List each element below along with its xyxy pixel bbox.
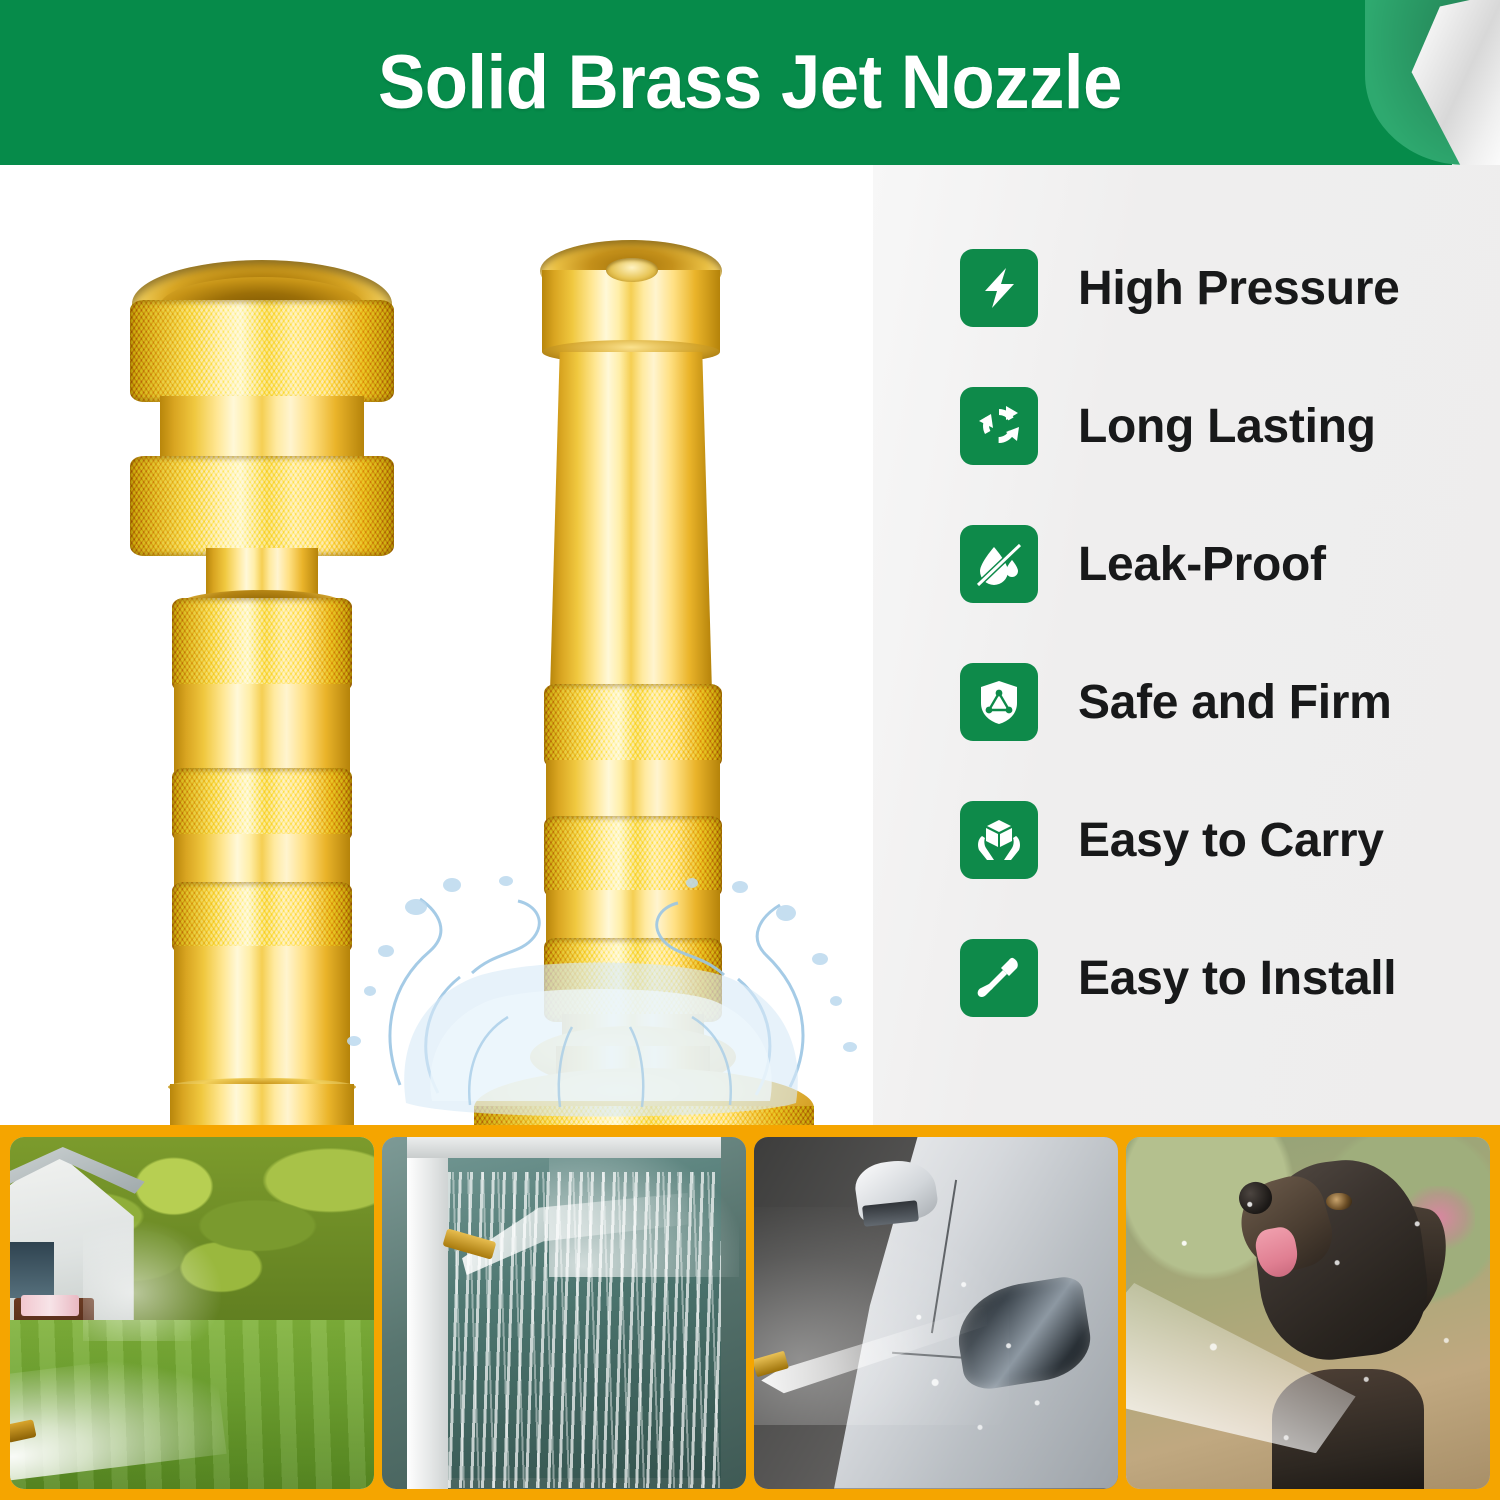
main-content: High Pressure <box>0 165 1500 1125</box>
feature-item-easy-to-install: Easy to Install <box>960 939 1500 1017</box>
feature-item-leak-proof: Leak-Proof <box>960 525 1500 603</box>
nozzle-body-section <box>174 684 350 778</box>
usage-gallery <box>0 1125 1500 1500</box>
page-title: Solid Brass Jet Nozzle <box>53 0 1448 165</box>
feature-label: High Pressure <box>1078 261 1400 316</box>
shield-network-icon <box>960 663 1038 741</box>
feature-item-safe-and-firm: Safe and Firm <box>960 663 1500 741</box>
window-washing-photo <box>382 1137 746 1489</box>
lawn-watering-photo <box>10 1137 374 1489</box>
feature-label: Easy to Carry <box>1078 813 1384 868</box>
header-banner: Solid Brass Jet Nozzle <box>0 0 1500 165</box>
feature-label: Long Lasting <box>1078 399 1376 454</box>
car-washing-photo <box>754 1137 1118 1489</box>
nozzle-orifice <box>606 258 658 282</box>
feature-item-long-lasting: Long Lasting <box>960 387 1500 465</box>
hands-holding-box-icon <box>960 801 1038 879</box>
screwdriver-icon <box>960 939 1038 1017</box>
water-drop-slash-icon <box>960 525 1038 603</box>
dog-washing-photo <box>1126 1137 1490 1489</box>
product-stage <box>0 165 873 1125</box>
knurled-band <box>544 684 722 768</box>
feature-panel: High Pressure <box>873 165 1500 1125</box>
knurled-band <box>130 456 394 556</box>
feature-item-high-pressure: High Pressure <box>960 249 1500 327</box>
knurled-band <box>172 768 352 842</box>
feature-label: Easy to Install <box>1078 951 1396 1006</box>
nozzle-body-section <box>546 760 720 824</box>
product-infographic-page: Solid Brass Jet Nozzle <box>0 0 1500 1500</box>
knurled-band <box>130 300 394 402</box>
water-splash-icon <box>320 855 873 1125</box>
nozzle-taper-body <box>550 352 712 692</box>
lightning-bolt-icon <box>960 249 1038 327</box>
feature-label: Leak-Proof <box>1078 537 1326 592</box>
feature-label: Safe and Firm <box>1078 675 1392 730</box>
recycle-arrows-icon <box>960 387 1038 465</box>
knurled-band <box>172 598 352 692</box>
feature-list: High Pressure <box>960 249 1500 1077</box>
feature-item-easy-to-carry: Easy to Carry <box>960 801 1500 879</box>
